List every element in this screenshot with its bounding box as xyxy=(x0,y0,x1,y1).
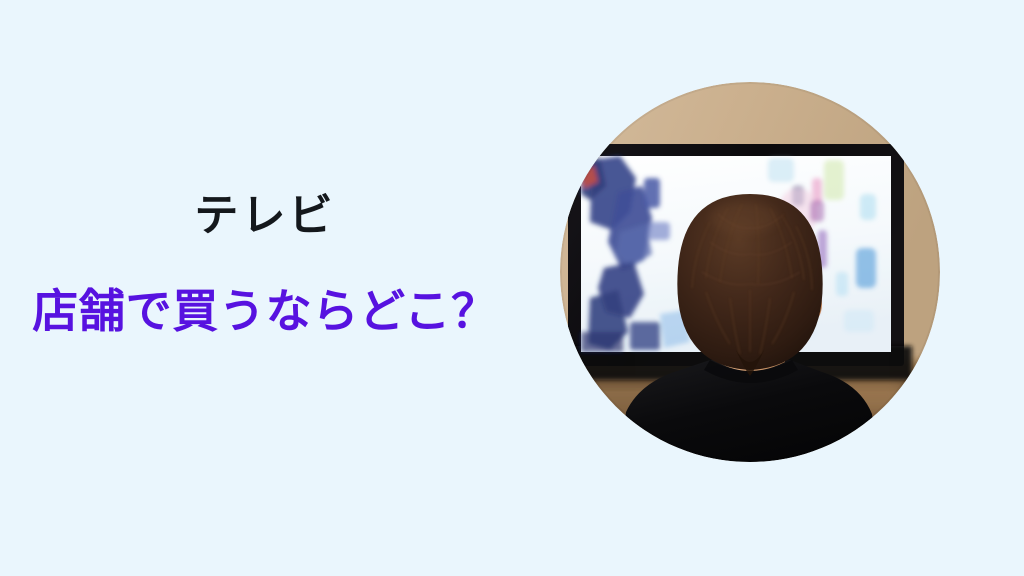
photo-illustration xyxy=(560,82,940,462)
boy-watching-television-photo xyxy=(560,82,940,462)
slide-canvas: テレビ 店舗で買うならどこ？ xyxy=(0,0,1024,576)
headline-text-block: テレビ 店舗で買うならどこ？ xyxy=(0,190,530,338)
page-subtitle: 店舗で買うならどこ？ xyxy=(0,284,530,338)
page-title: テレビ xyxy=(0,190,530,242)
